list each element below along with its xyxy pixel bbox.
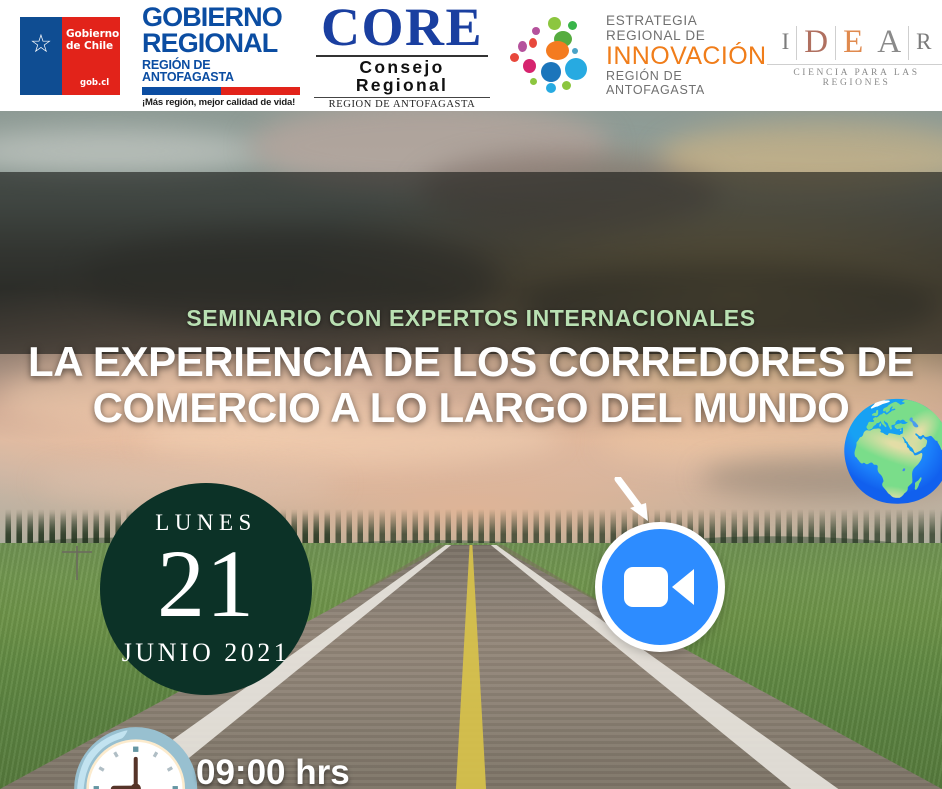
seminar-kicker: SEMINARIO CON EXPERTOS INTERNACIONALES <box>0 305 942 332</box>
chile-coat-of-arms-icon: ☆ <box>27 29 55 59</box>
date-month-year: JUNIO 2021 <box>122 638 291 668</box>
gobierno-regional-tagline: ¡Más región, mejor calidad de vida! <box>142 98 300 108</box>
arrow-down-icon <box>612 477 660 527</box>
page-title: LA EXPERIENCIA DE LOS CORREDORES DE COME… <box>24 339 918 431</box>
core-wordmark: CORE <box>314 0 490 54</box>
video-camera-icon <box>624 565 696 609</box>
date-day-number: 21 <box>157 536 255 632</box>
innovacion-line2: INNOVACIÓN <box>606 43 767 70</box>
idear-tagline: CIENCIA PARA LAS REGIONES <box>767 68 942 88</box>
date-badge: LUNES 21 JUNIO 2021 <box>100 483 312 695</box>
gobierno-line1: Gobierno <box>66 28 119 40</box>
gob-cl-url: gob.cl <box>80 78 109 88</box>
gobierno-line2: de Chile <box>66 40 113 52</box>
logo-core: CORE Consejo Regional REGION DE ANTOFAGA… <box>314 0 490 111</box>
idear-letter-r: R <box>909 24 938 60</box>
event-time: 09:00 hrs (CHILE) <box>196 754 426 789</box>
earth-globe-icon: 🌍 <box>838 403 942 499</box>
logo-gobierno-de-chile: ☆ Gobierno de Chile gob.cl <box>20 17 120 95</box>
idear-rule <box>767 64 942 65</box>
gobierno-regional-region: REGIÓN DE ANTOFAGASTA <box>142 59 300 84</box>
zoom-meeting-button[interactable] <box>595 522 725 652</box>
innovacion-line1: ESTRATEGIA REGIONAL DE <box>606 14 767 43</box>
innovacion-text-block: ESTRATEGIA REGIONAL DE INNOVACIÓN REGIÓN… <box>606 14 767 97</box>
core-rule-bottom <box>314 97 490 98</box>
logo-estrategia-innovacion: ESTRATEGIA REGIONAL DE INNOVACIÓN REGIÓN… <box>510 14 767 97</box>
idear-letter-a: A <box>870 24 908 60</box>
event-flyer: ☆ Gobierno de Chile gob.cl GOBIERNO REGI… <box>0 0 942 789</box>
idear-letter-i: I <box>775 24 797 60</box>
gobierno-de-chile-label: Gobierno de Chile <box>66 28 120 53</box>
idear-letter-d: D <box>797 24 835 60</box>
idear-letter-e: E <box>836 24 870 60</box>
core-consejo-regional-label: Consejo Regional <box>314 59 490 94</box>
logo-idear: I D E A R CIENCIA PARA LAS REGIONES <box>767 24 942 88</box>
gobierno-regional-line2: REGIONAL <box>142 30 300 57</box>
event-time-value: 09:00 hrs <box>196 753 350 789</box>
color-bar-red <box>221 87 300 95</box>
logo-gobierno-regional: GOBIERNO REGIONAL REGIÓN DE ANTOFAGASTA … <box>142 4 300 108</box>
clock-icon: 🕘 <box>66 734 182 789</box>
core-region-label: REGION DE ANTOFAGASTA <box>314 100 490 111</box>
header-logo-bar: ☆ Gobierno de Chile gob.cl GOBIERNO REGI… <box>0 0 942 111</box>
innovacion-line3: REGIÓN DE ANTOFAGASTA <box>606 70 767 97</box>
utility-pole-crossbar-1 <box>62 551 92 553</box>
color-bar-blue <box>142 87 221 95</box>
idear-letters: I D E A R <box>767 24 942 60</box>
hero-photo: SEMINARIO CON EXPERTOS INTERNACIONALES L… <box>0 111 942 789</box>
innovacion-dots-icon <box>510 15 602 97</box>
gobierno-regional-line1: GOBIERNO <box>142 4 300 31</box>
gobierno-regional-color-bar <box>142 87 300 95</box>
